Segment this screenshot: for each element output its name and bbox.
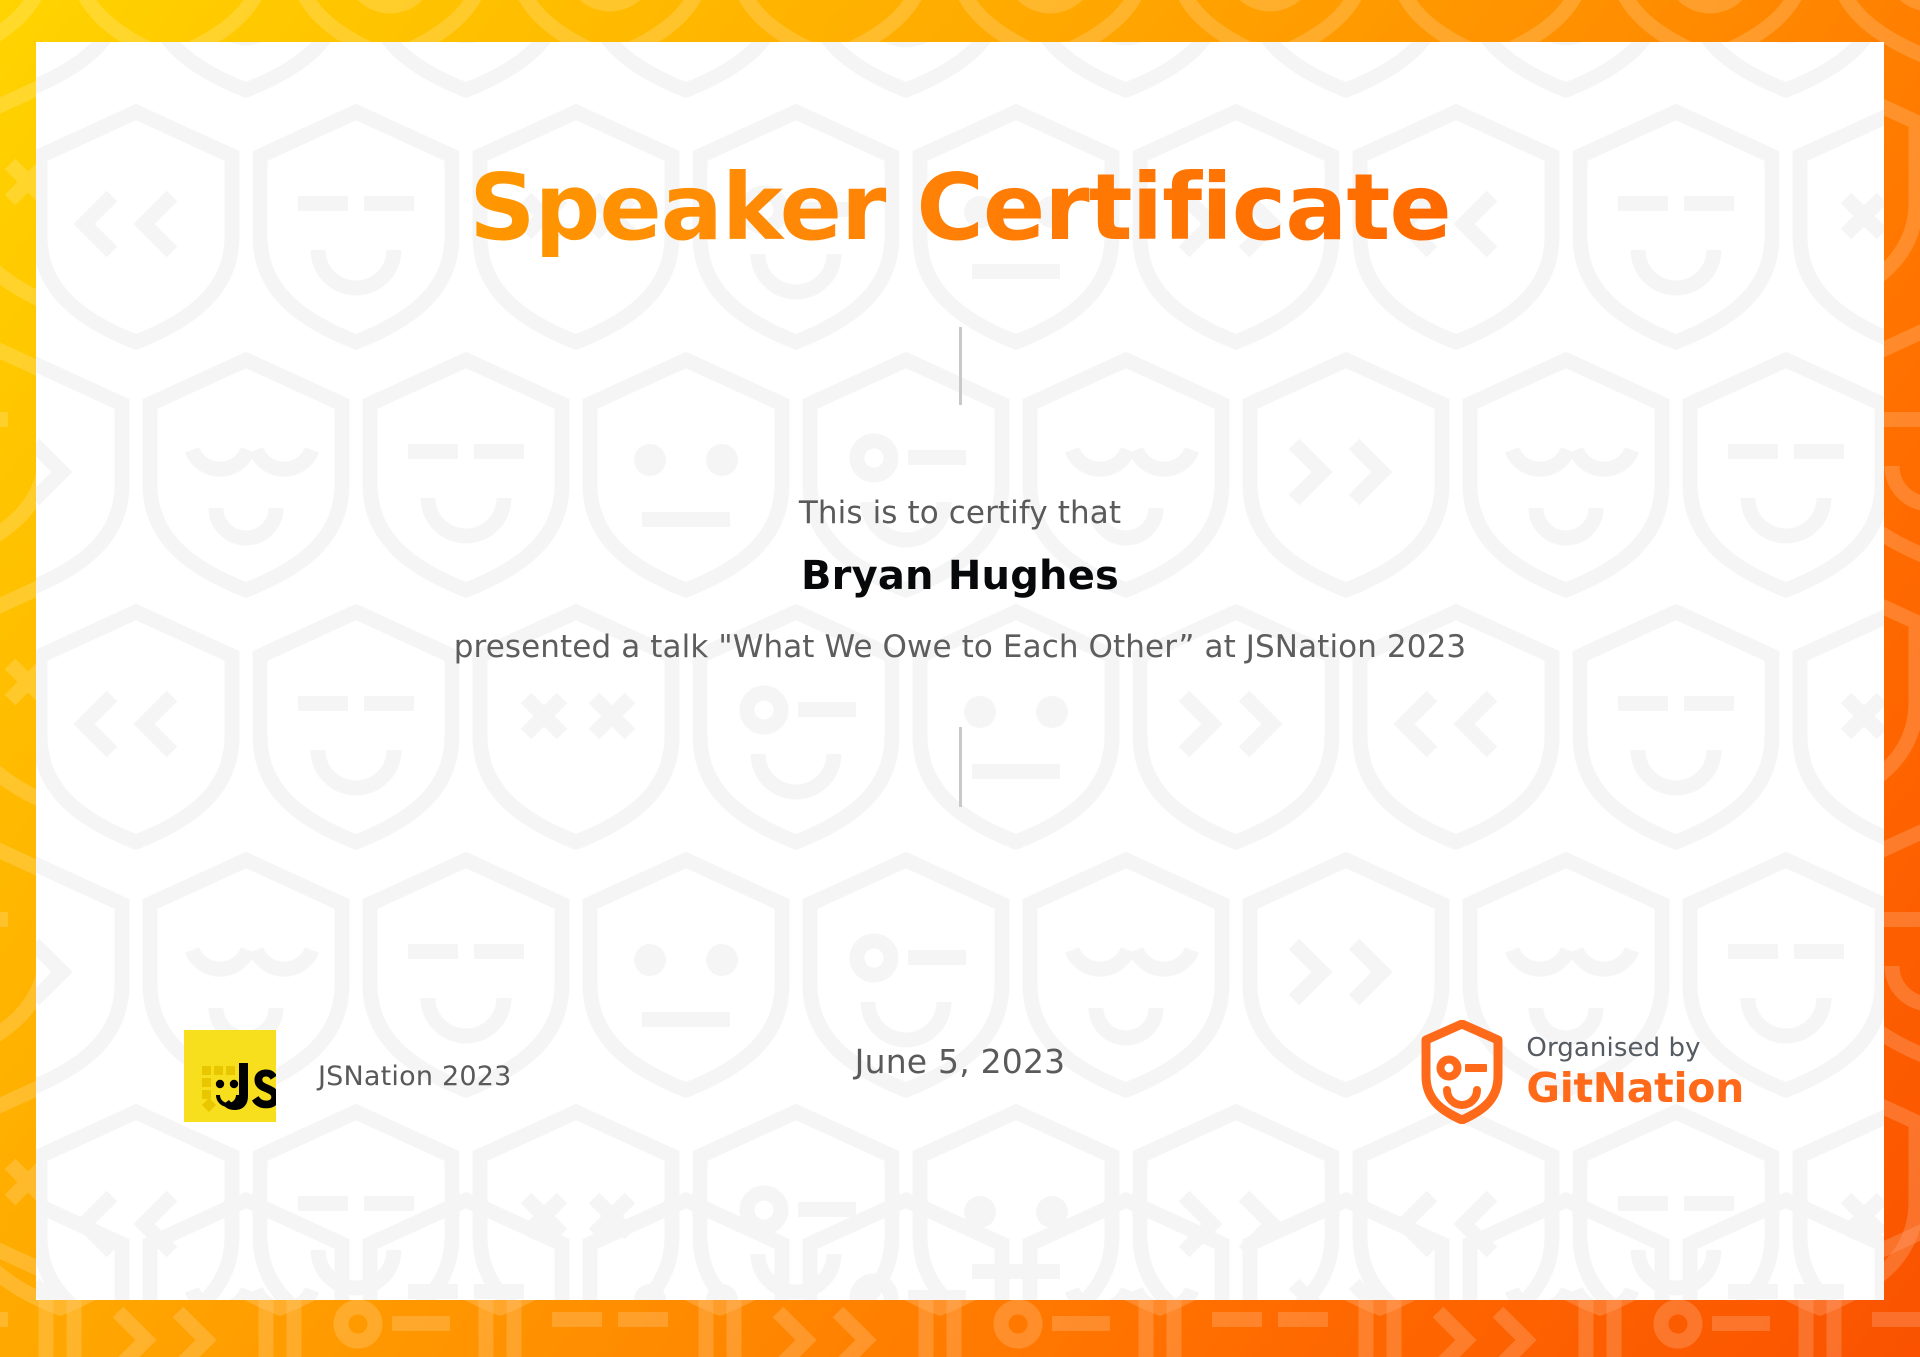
gitnation-shield-icon [1420,1020,1504,1124]
organiser-name: GitNation [1526,1065,1744,1112]
certificate-page: Speaker Certificate This is to certify t… [0,0,1920,1357]
certificate-footer: JSNation 2023 June 5, 2023 Organised by … [36,1020,1884,1170]
organised-by-label: Organised by [1526,1032,1744,1065]
recipient-name: Bryan Hughes [801,553,1119,599]
divider-top [959,327,962,405]
certify-line: This is to certify that [799,495,1121,531]
page-title: Speaker Certificate [469,160,1450,257]
talk-description: presented a talk "What We Owe to Each Ot… [454,629,1466,665]
divider-bottom [959,727,962,807]
certificate-card: Speaker Certificate This is to certify t… [36,42,1884,1300]
footer-organiser-block: Organised by GitNation [1420,1020,1744,1124]
